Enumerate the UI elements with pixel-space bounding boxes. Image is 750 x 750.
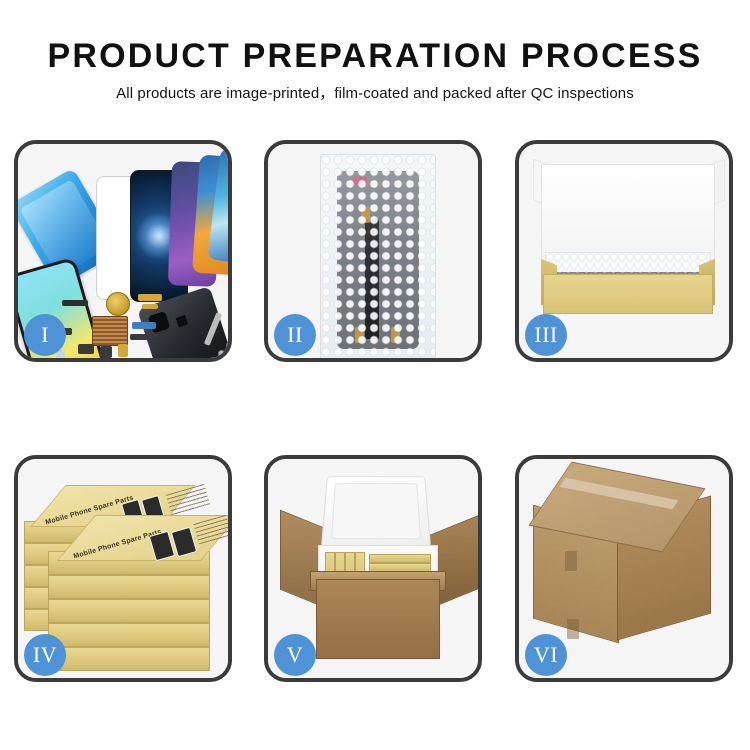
step-badge-5: V [274, 634, 316, 676]
panel-step-1[interactable]: I [14, 140, 232, 362]
earpiece-mesh [62, 300, 88, 306]
step-badge-6: VI [525, 634, 567, 676]
flex-cable-gold-1 [138, 294, 162, 301]
carton-seam-lower [567, 619, 579, 639]
panel-step-2[interactable]: II [264, 140, 482, 362]
panel-step-3[interactable]: III [515, 140, 733, 362]
vibrator-motor [100, 346, 112, 358]
screw-1 [226, 342, 232, 349]
step-badge-3: III [525, 314, 567, 356]
process-step-grid: I II III [0, 0, 750, 750]
sim-tray [118, 344, 128, 357]
stacked-box-front-5 [48, 647, 210, 671]
stacked-box-front-2 [48, 575, 210, 599]
panel-step-5[interactable]: V [264, 455, 482, 682]
styrofoam-lid [321, 476, 431, 547]
panel-step-6[interactable]: VI [515, 455, 733, 682]
blue-flex-cable [132, 322, 156, 329]
carton-seam-upper [565, 551, 577, 571]
inner-box-5 [369, 554, 431, 563]
bubble-texture [321, 155, 435, 360]
camera-module [78, 344, 94, 354]
step-badge-4: IV [24, 634, 66, 676]
step-badge-1: I [24, 314, 66, 356]
screw-3 [230, 352, 232, 359]
bubble-wrap-bag [320, 154, 436, 361]
flex-cable-gold-2 [142, 304, 158, 309]
carton-body [316, 579, 440, 659]
screw-2 [218, 350, 225, 357]
stacked-box-front-3 [48, 599, 210, 623]
panel-step-4[interactable]: Mobile Phone Spare Parts Mobile Phone Sp… [14, 455, 232, 682]
shield-grid [92, 316, 128, 346]
step-badge-2: II [274, 314, 316, 356]
flex-strip-2 [130, 334, 150, 340]
stacked-box-front-4 [48, 623, 210, 647]
speaker-module [106, 292, 130, 316]
box-front-panel [543, 274, 713, 314]
